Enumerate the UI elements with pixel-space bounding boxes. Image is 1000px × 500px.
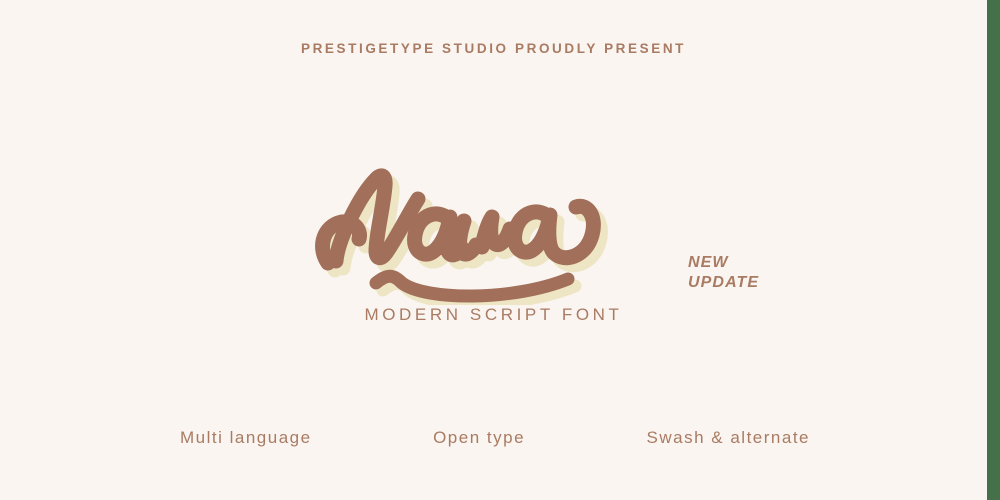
maira-script-wordmark: Maira [314, 155, 674, 305]
script-main-layer [322, 176, 593, 296]
font-promo-poster: PRESTIGETYPE STUDIO PROUDLY PRESENT Mair… [0, 0, 1000, 500]
logo-lockup: Maira [0, 155, 987, 310]
feature-swash-alternate: Swash & alternate [647, 428, 810, 448]
badge-line-new: NEW [688, 253, 759, 273]
feature-list: Multi language Open type Swash & alterna… [180, 428, 810, 448]
kicker-text: PRESTIGETYPE STUDIO PROUDLY PRESENT [0, 41, 987, 56]
subtitle-text: MODERN SCRIPT FONT [0, 305, 987, 325]
feature-multi-language: Multi language [180, 428, 312, 448]
badge-line-update: UPDATE [688, 273, 759, 293]
right-edge-green-bar [987, 0, 1000, 500]
feature-open-type: Open type [433, 428, 525, 448]
new-update-badge: NEW UPDATE [688, 253, 759, 293]
